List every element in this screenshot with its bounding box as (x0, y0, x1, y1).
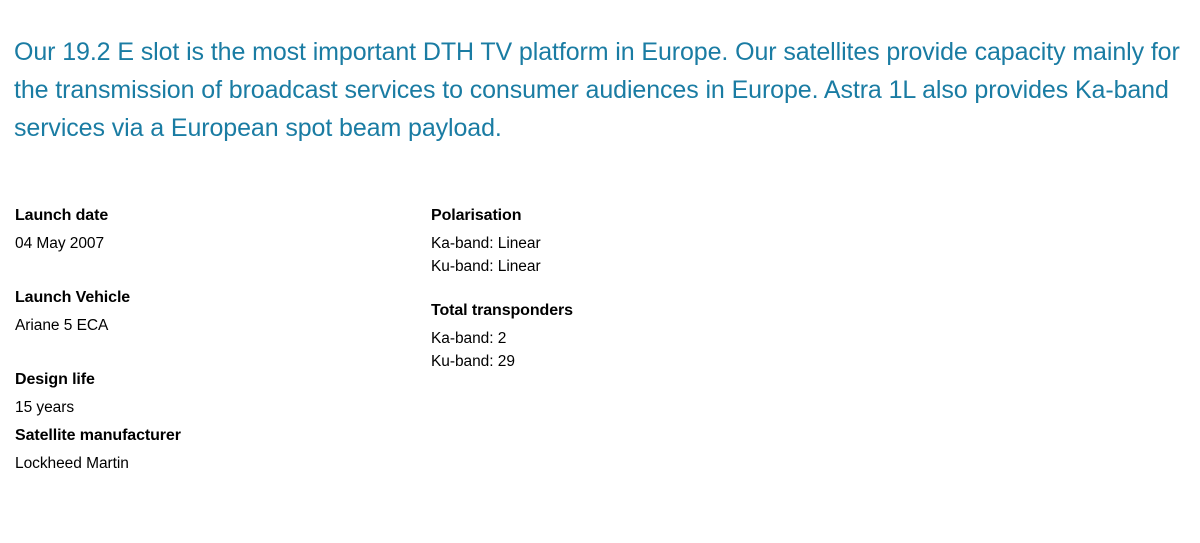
spec-block-launch-vehicle: Launch Vehicle Ariane 5 ECA (15, 287, 415, 337)
spec-label-launch-vehicle: Launch Vehicle (15, 287, 415, 309)
spec-block-total-transponders: Total transponders Ka-band: 2 Ku-band: 2… (431, 300, 881, 373)
spec-value-launch-date: 04 May 2007 (15, 233, 415, 255)
spec-column-left: Launch date 04 May 2007 Launch Vehicle A… (15, 205, 415, 507)
fact-sheet-page: Our 19.2 E slot is the most important DT… (0, 0, 1200, 543)
spec-label-satellite-manufacturer: Satellite manufacturer (15, 425, 415, 447)
spec-label-total-transponders: Total transponders (431, 300, 881, 322)
spec-block-launch-date: Launch date 04 May 2007 (15, 205, 415, 255)
spec-value-polarisation: Ka-band: Linear Ku-band: Linear (431, 232, 881, 278)
spec-label-polarisation: Polarisation (431, 205, 881, 227)
spec-value-design-life: 15 years (15, 397, 415, 419)
spec-value-launch-vehicle: Ariane 5 ECA (15, 315, 415, 337)
spec-label-design-life: Design life (15, 369, 415, 391)
spec-value-satellite-manufacturer: Lockheed Martin (15, 453, 415, 475)
spec-block-polarisation: Polarisation Ka-band: Linear Ku-band: Li… (431, 205, 881, 278)
intro-paragraph: Our 19.2 E slot is the most important DT… (14, 33, 1200, 147)
spec-label-launch-date: Launch date (15, 205, 415, 227)
spec-block-design-life: Design life 15 years (15, 369, 415, 419)
spec-value-total-transponders: Ka-band: 2 Ku-band: 29 (431, 327, 881, 373)
spec-column-right: Polarisation Ka-band: Linear Ku-band: Li… (431, 205, 881, 395)
spec-block-satellite-manufacturer: Satellite manufacturer Lockheed Martin (15, 425, 415, 475)
